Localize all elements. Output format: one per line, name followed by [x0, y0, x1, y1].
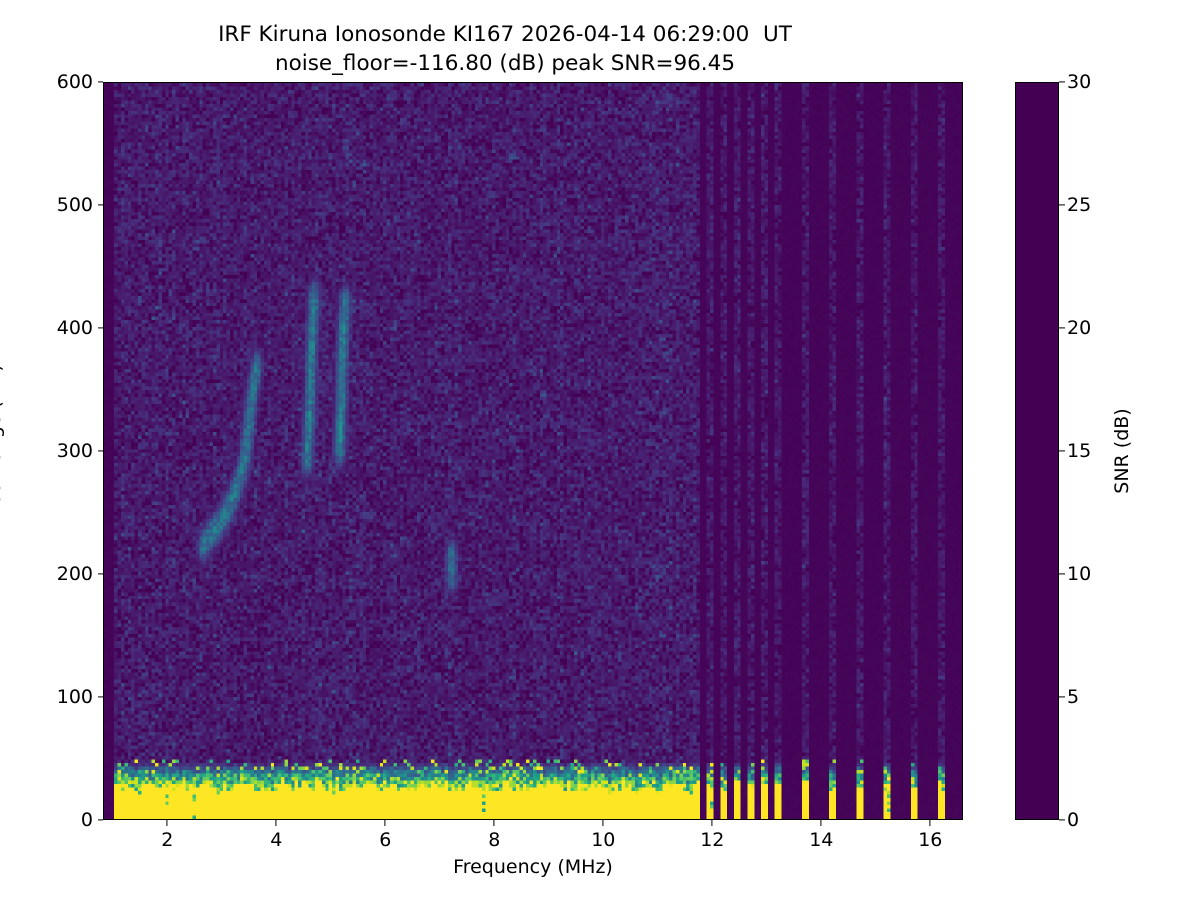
y-tick-label: 300	[57, 440, 93, 462]
y-tick-mark	[98, 573, 104, 574]
y-tick-mark	[98, 81, 104, 82]
title-line-2: noise_floor=-116.80 (dB) peak SNR=96.45	[0, 49, 1010, 78]
colorbar-gradient	[1016, 83, 1058, 819]
x-tick-mark	[276, 820, 277, 826]
y-axis-label: Virtual range (km)	[0, 364, 5, 538]
x-tick-mark	[167, 820, 168, 826]
colorbar-tick-label: 20	[1067, 317, 1091, 339]
title-line-1: IRF Kiruna Ionosonde KI167 2026-04-14 06…	[0, 20, 1010, 49]
x-tick-label: 12	[700, 829, 724, 851]
x-tick-label: 14	[809, 829, 833, 851]
y-tick-label: 400	[57, 317, 93, 339]
x-tick-label: 8	[488, 829, 500, 851]
colorbar-tick-label: 5	[1067, 686, 1079, 708]
x-tick-label: 2	[161, 829, 173, 851]
ionogram-heatmap	[104, 83, 962, 819]
x-tick-label: 6	[379, 829, 391, 851]
colorbar-tick-mark	[1059, 450, 1065, 451]
x-tick-mark	[494, 820, 495, 826]
y-tick-mark	[98, 450, 104, 451]
x-tick-mark	[603, 820, 604, 826]
colorbar-tick-mark	[1059, 696, 1065, 697]
y-tick-label: 0	[81, 809, 93, 831]
y-tick-mark	[98, 327, 104, 328]
x-tick-mark	[712, 820, 713, 826]
y-tick-mark	[98, 204, 104, 205]
x-tick-label: 4	[270, 829, 282, 851]
page-title: IRF Kiruna Ionosonde KI167 2026-04-14 06…	[0, 20, 1010, 78]
y-tick-mark	[98, 696, 104, 697]
x-tick-label: 16	[918, 829, 942, 851]
y-tick-label: 200	[57, 563, 93, 585]
colorbar-tick-label: 15	[1067, 440, 1091, 462]
colorbar-tick-mark	[1059, 573, 1065, 574]
heatmap-canvas	[104, 83, 962, 819]
x-tick-mark	[385, 820, 386, 826]
colorbar-tick-label: 10	[1067, 563, 1091, 585]
colorbar-tick-label: 30	[1067, 71, 1091, 93]
x-tick-mark	[930, 820, 931, 826]
colorbar-label: SNR (dB)	[1111, 408, 1133, 493]
colorbar-tick-label: 25	[1067, 194, 1091, 216]
colorbar-tick-mark	[1059, 81, 1065, 82]
colorbar-tick-mark	[1059, 204, 1065, 205]
plot-area[interactable]	[103, 82, 963, 820]
colorbar-tick-mark	[1059, 819, 1065, 820]
colorbar-tick-label: 0	[1067, 809, 1079, 831]
ionogram-figure: IRF Kiruna Ionosonde KI167 2026-04-14 06…	[0, 0, 1200, 900]
colorbar[interactable]	[1015, 82, 1059, 820]
x-axis-label: Frequency (MHz)	[453, 856, 613, 878]
x-tick-label: 10	[591, 829, 615, 851]
x-tick-mark	[821, 820, 822, 826]
y-tick-label: 600	[57, 71, 93, 93]
y-tick-mark	[98, 819, 104, 820]
y-tick-label: 100	[57, 686, 93, 708]
y-tick-label: 500	[57, 194, 93, 216]
colorbar-tick-mark	[1059, 327, 1065, 328]
